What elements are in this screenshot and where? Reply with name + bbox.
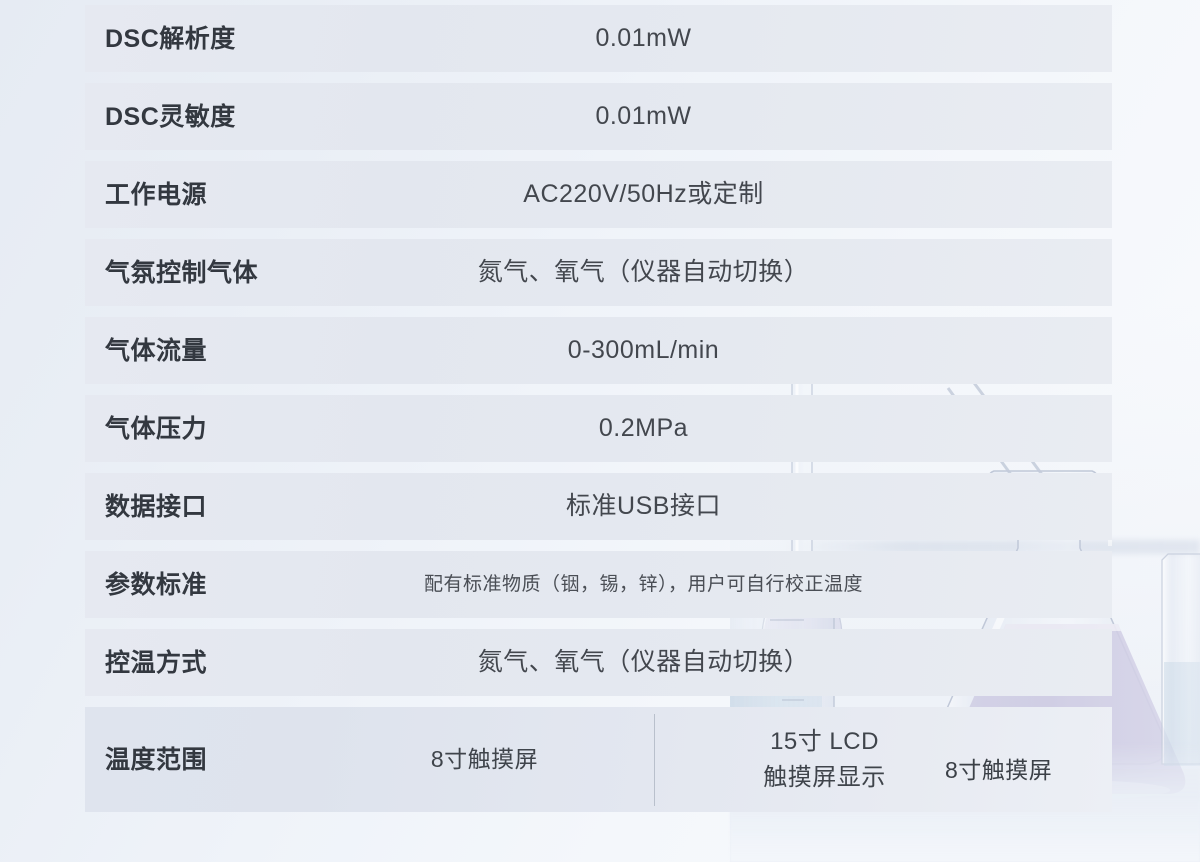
screen-option-right-line1: 15寸 LCD bbox=[655, 724, 994, 760]
spec-value: 标准USB接口 bbox=[315, 491, 1112, 522]
spec-value: 配有标准物质（铟，锡，锌），用户可自行校正温度 bbox=[315, 573, 1112, 597]
screen-option-right-line2: 触摸屏显示 bbox=[655, 760, 994, 796]
spec-label: DSC灵敏度 bbox=[85, 102, 315, 132]
table-row: 气氛控制气体 氮气、氧气（仪器自动切换） bbox=[85, 239, 1112, 306]
spec-value: AC220V/50Hz或定制 bbox=[315, 179, 1112, 210]
table-row: 气体压力 0.2MPa bbox=[85, 395, 1112, 462]
spec-label: 控温方式 bbox=[85, 648, 315, 678]
spec-value: 0.01mW bbox=[315, 23, 1112, 54]
spec-label: 温度范围 bbox=[85, 745, 315, 775]
spec-value: 0.2MPa bbox=[315, 413, 1112, 444]
overlay-note-touchscreen: 8寸触摸屏 bbox=[945, 751, 1052, 785]
spec-label: 气体压力 bbox=[85, 414, 315, 444]
spec-value: 0-300mL/min bbox=[315, 335, 1112, 366]
table-row: 参数标准 配有标准物质（铟，锡，锌），用户可自行校正温度 bbox=[85, 551, 1112, 618]
table-row: 数据接口 标准USB接口 bbox=[85, 473, 1112, 540]
spec-value: 氮气、氧气（仪器自动切换） bbox=[315, 647, 1112, 678]
specification-table: DSC解析度 0.01mW DSC灵敏度 0.01mW 工作电源 AC220V/… bbox=[85, 5, 1112, 812]
table-row: 控温方式 氮气、氧气（仪器自动切换） bbox=[85, 629, 1112, 696]
table-row: DSC解析度 0.01mW bbox=[85, 5, 1112, 72]
screen-option-left: 8寸触摸屏 bbox=[315, 742, 654, 777]
spec-label: 数据接口 bbox=[85, 492, 315, 522]
spec-value: 氮气、氧气（仪器自动切换） bbox=[315, 257, 1112, 288]
spec-label: 气氛控制气体 bbox=[85, 258, 315, 288]
spec-value: 0.01mW bbox=[315, 101, 1112, 132]
spec-label: 工作电源 bbox=[85, 180, 315, 210]
spec-label: 气体流量 bbox=[85, 336, 315, 366]
table-row: 气体流量 0-300mL/min bbox=[85, 317, 1112, 384]
spec-label: 参数标准 bbox=[85, 570, 315, 600]
spec-sheet-page: DSC解析度 0.01mW DSC灵敏度 0.01mW 工作电源 AC220V/… bbox=[0, 0, 1200, 862]
screen-option-right: 15寸 LCD 触摸屏显示 bbox=[655, 724, 994, 796]
table-row: 工作电源 AC220V/50Hz或定制 bbox=[85, 161, 1112, 228]
spec-label: DSC解析度 bbox=[85, 24, 315, 54]
table-row: DSC灵敏度 0.01mW bbox=[85, 83, 1112, 150]
